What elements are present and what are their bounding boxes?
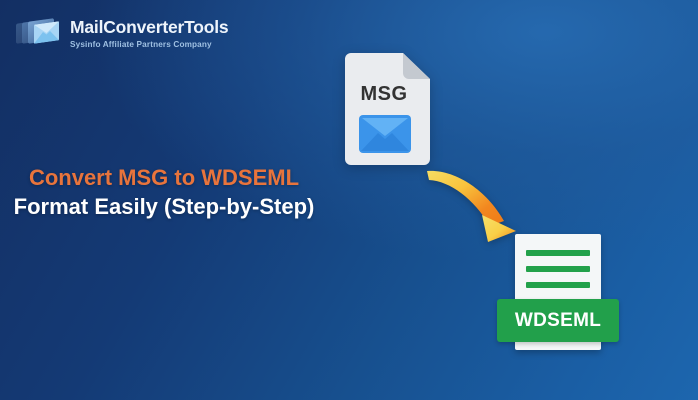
document-text-line (526, 266, 590, 272)
promo-banner: MailConverterTools Sysinfo Affiliate Par… (0, 0, 698, 400)
brand-tagline: Sysinfo Affiliate Partners Company (70, 41, 228, 49)
document-text-line (526, 282, 590, 288)
page-title-body-line: Format Easily (Step-by-Step) (8, 192, 320, 221)
wdseml-badge-label: WDSEML (515, 310, 601, 332)
brand-logo-text: MailConverterTools Sysinfo Affiliate Par… (70, 19, 228, 49)
wdseml-document-icon: WDSEML (497, 234, 619, 360)
page-title: Convert MSG to WDSEML Format Easily (Ste… (8, 163, 320, 221)
document-text-line (526, 250, 590, 256)
envelope-front-icon (34, 21, 59, 44)
wdseml-format-badge: WDSEML (497, 299, 619, 342)
page-title-accent-line: Convert MSG to WDSEML (8, 163, 320, 192)
stacked-envelopes-icon (14, 14, 62, 54)
blue-envelope-icon (359, 115, 411, 153)
brand-title: MailConverterTools (70, 19, 228, 37)
brand-logo[interactable]: MailConverterTools Sysinfo Affiliate Par… (14, 14, 228, 54)
msg-file-label: MSG (345, 83, 423, 106)
